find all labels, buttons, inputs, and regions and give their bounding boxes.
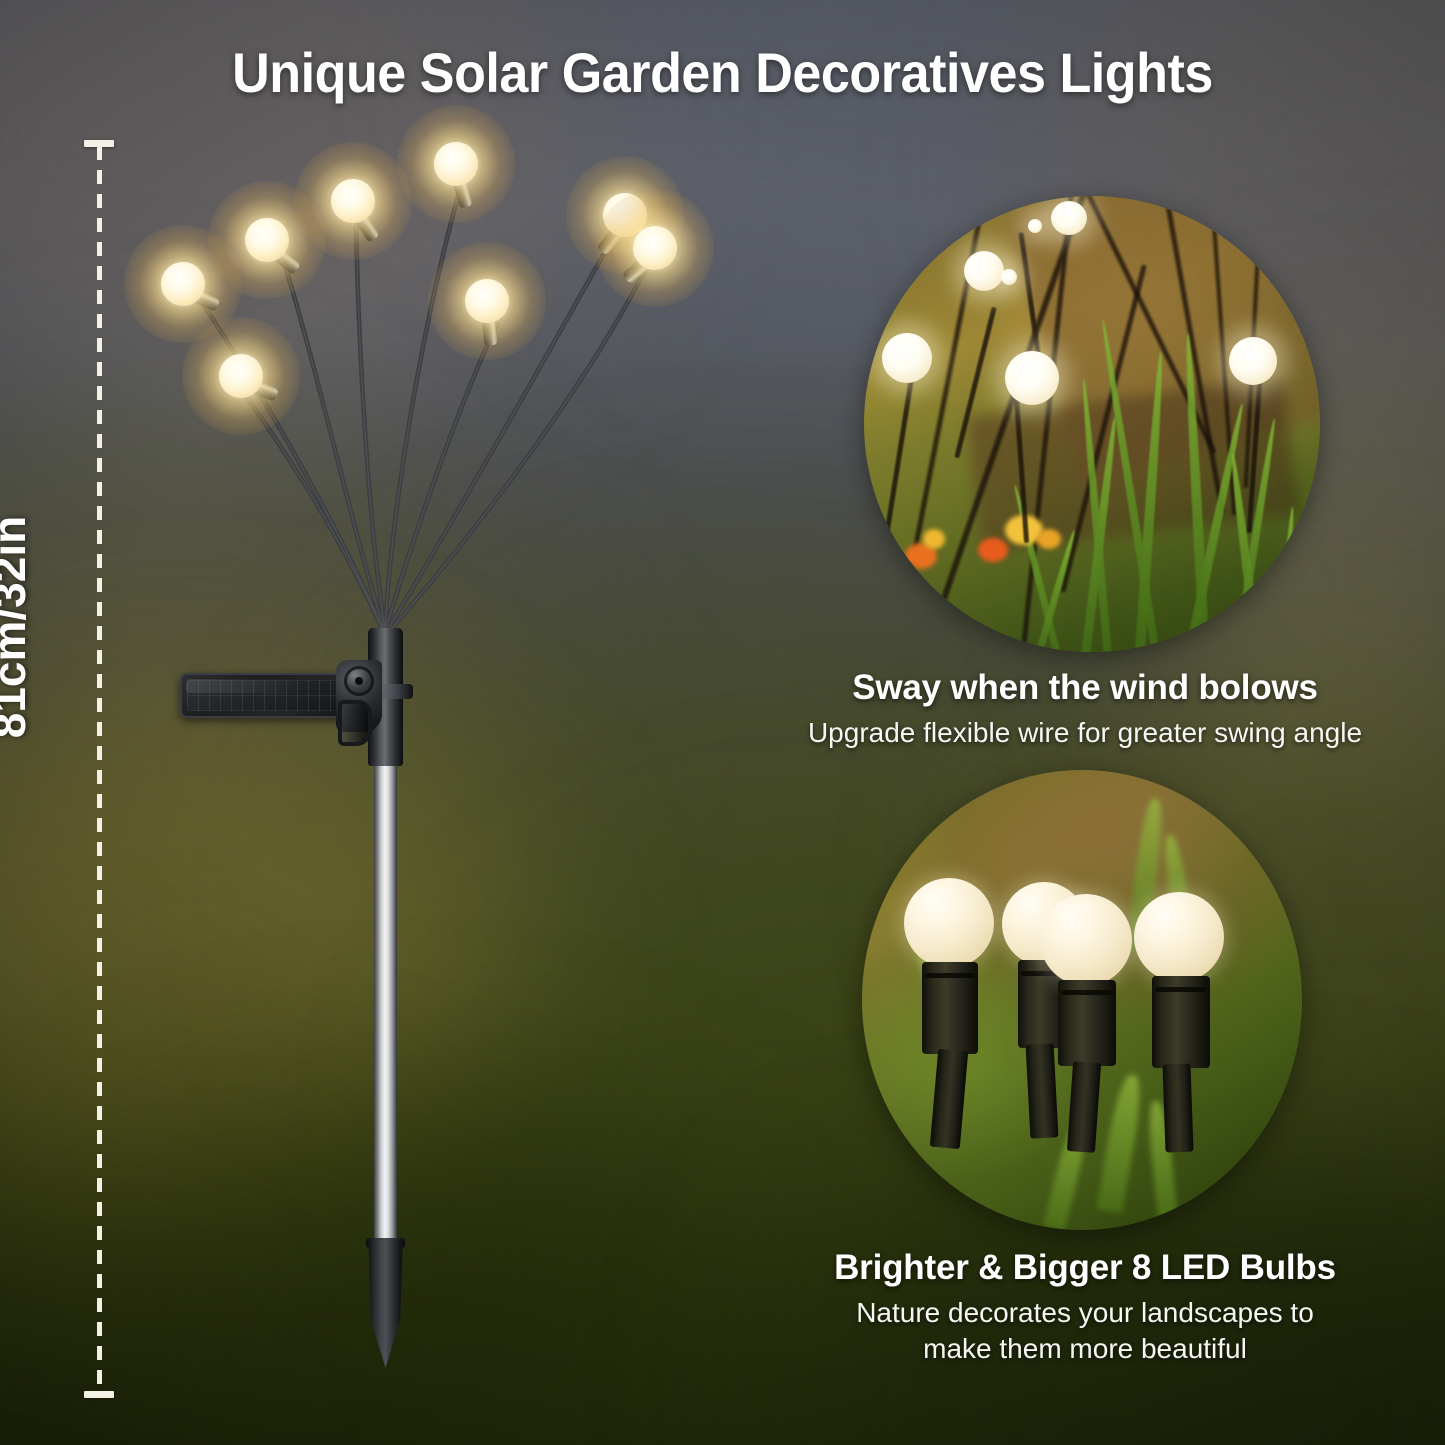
- product-illustration: [0, 0, 760, 1445]
- solar-panel: [180, 673, 345, 718]
- infographic-canvas: Unique Solar Garden Decoratives Lights 8…: [0, 0, 1445, 1445]
- double-arrow-small-icon: [928, 643, 985, 652]
- bulb-wire: [1162, 1064, 1193, 1153]
- bulb-orb: [245, 218, 289, 262]
- bulb-orb: [161, 262, 205, 306]
- led-bulb-closeup: [1134, 892, 1234, 1152]
- panel-pivot-knob: [344, 666, 374, 696]
- wire-4: [385, 182, 462, 630]
- feature-caption-sway: Sway when the wind bolows Upgrade flexib…: [725, 668, 1445, 751]
- flexible-wires: [0, 0, 760, 700]
- feature-photo-sway: [864, 196, 1320, 652]
- stainless-pole: [374, 756, 397, 1248]
- bulb-orb: [434, 142, 478, 186]
- bulb-socket: [1058, 980, 1116, 1066]
- bulb-orb: [633, 226, 677, 270]
- solar-panel-glint: [186, 679, 337, 693]
- ground-spike: [366, 1240, 405, 1368]
- feature-photo-bulbs: [862, 770, 1302, 1230]
- bulb-socket: [922, 962, 978, 1054]
- bulb-wire: [1067, 1061, 1101, 1153]
- feature-subheading: Nature decorates your landscapes to make…: [820, 1295, 1350, 1367]
- bulb-orb: [331, 179, 375, 223]
- bulb-socket: [1152, 976, 1210, 1068]
- led-bulb-closeup: [1040, 894, 1140, 1152]
- feature-subheading: Upgrade flexible wire for greater swing …: [725, 715, 1445, 751]
- bulb-orb: [465, 279, 509, 323]
- bulb-globe: [904, 878, 994, 968]
- feature-heading: Sway when the wind bolows: [725, 668, 1445, 708]
- feature-caption-bulbs: Brighter & Bigger 8 LED Bulbs Nature dec…: [725, 1248, 1445, 1367]
- panel-mounting-clip: [338, 700, 372, 746]
- sway-arrow-annotations: [864, 196, 1320, 652]
- wire-3: [356, 218, 385, 630]
- bulb-wire: [930, 1049, 968, 1149]
- led-bulb-closeup: [904, 878, 1000, 1148]
- bulb-orb: [219, 354, 263, 398]
- bulb-globe: [1134, 892, 1224, 982]
- feature-heading: Brighter & Bigger 8 LED Bulbs: [725, 1248, 1445, 1288]
- bulb-globe: [1040, 894, 1132, 986]
